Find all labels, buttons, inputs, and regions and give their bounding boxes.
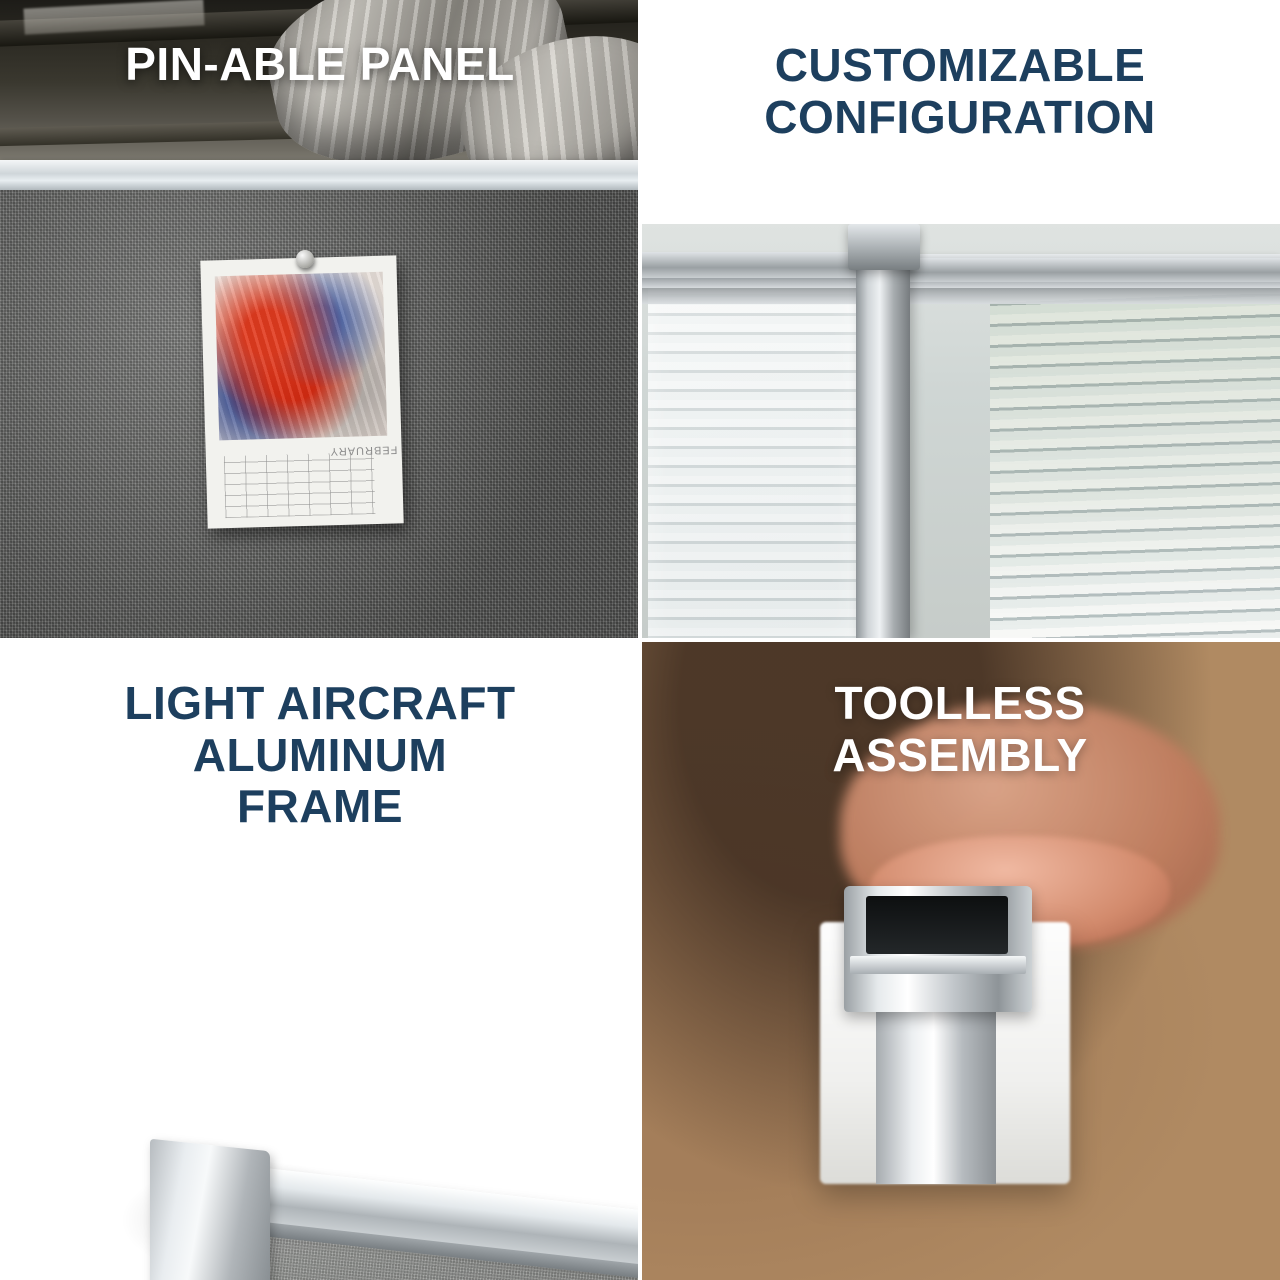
frame-corner-joint	[150, 1139, 270, 1280]
push-pin-icon	[296, 250, 314, 268]
label-line-1: TOOLLESS	[640, 678, 1280, 730]
label-line-1: CUSTOMIZABLE	[640, 40, 1280, 92]
calendar-month-label: FEBRUARY	[330, 443, 398, 457]
abstract-artwork	[215, 272, 388, 441]
calendar-grid	[224, 452, 376, 518]
label-line-1: LIGHT AIRCRAFT	[0, 678, 640, 730]
feature-collage: FEBRUARY PIN-ABLE PANEL CUSTOMIZABLE CON…	[0, 0, 1280, 1280]
divider-post-photo-region	[640, 224, 1280, 640]
label-line-2: ASSEMBLY	[640, 730, 1280, 782]
connector-lip	[850, 956, 1026, 974]
aluminum-divider-post	[856, 234, 910, 640]
connector-channel-slot	[866, 896, 1008, 954]
glass-panel-left	[648, 286, 856, 640]
aluminum-post-cap	[848, 224, 920, 270]
horizontal-divider	[0, 638, 1280, 642]
frame-rail-right	[902, 258, 1280, 282]
frame-top-rail-shadow	[640, 288, 1280, 304]
calendar-sheet: FEBRUARY	[200, 255, 403, 528]
panel-pin-able: FEBRUARY PIN-ABLE PANEL	[0, 0, 640, 640]
panel-toolless-assembly: TOOLLESS ASSEMBLY	[640, 640, 1280, 1280]
panel-label-pin-able: PIN-ABLE PANEL	[0, 40, 640, 89]
frame-rail-left	[640, 252, 860, 278]
aluminum-frame-photo-region	[0, 890, 640, 1280]
panel-aluminum-frame: LIGHT AIRCRAFT ALUMINUM FRAME	[0, 640, 640, 1280]
window-outdoor-tint	[990, 294, 1280, 640]
panel-label-aluminum-frame: LIGHT AIRCRAFT ALUMINUM FRAME	[0, 678, 640, 833]
panel-top-edge	[0, 160, 640, 194]
panel-customizable-configuration: CUSTOMIZABLE CONFIGURATION	[640, 0, 1280, 640]
label-line-2: CONFIGURATION	[640, 92, 1280, 144]
label-line-2: ALUMINUM	[0, 730, 640, 782]
label-line-3: FRAME	[0, 781, 640, 833]
panel-label-customizable-configuration: CUSTOMIZABLE CONFIGURATION	[640, 40, 1280, 143]
panel-label-toolless-assembly: TOOLLESS ASSEMBLY	[640, 678, 1280, 781]
